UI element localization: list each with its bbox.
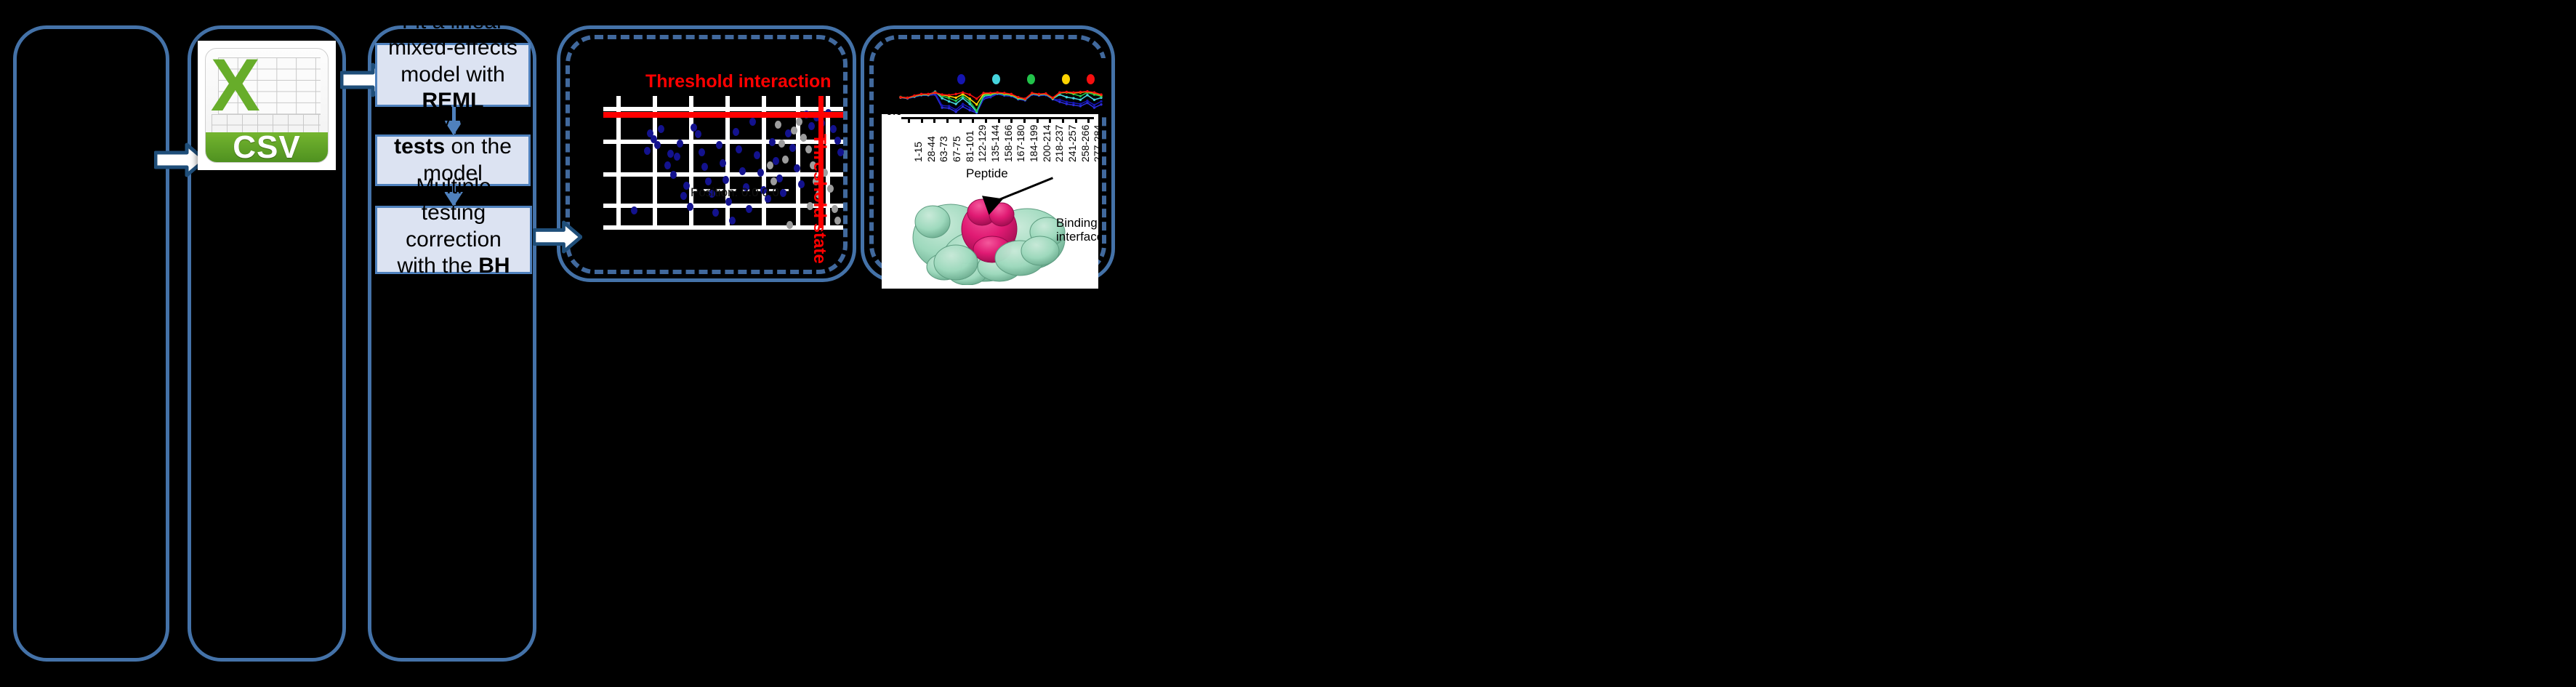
gridline-h	[603, 140, 843, 144]
chart-series-marker	[948, 105, 950, 107]
chart-series-marker	[1093, 104, 1095, 106]
chart-series-marker	[1031, 92, 1033, 94]
chart-series-marker	[941, 93, 943, 95]
chart-series-marker	[1079, 91, 1082, 93]
scatter-point	[798, 180, 805, 188]
peptide-tick-label: 158-166	[1002, 125, 1014, 162]
chart-series-marker	[920, 93, 922, 95]
chart-series-marker	[1052, 97, 1054, 99]
chart-series-line	[901, 93, 1101, 113]
peptide-tick-label: 277-284	[1092, 125, 1098, 162]
scatter-point	[789, 144, 796, 152]
chart-series-marker	[989, 92, 991, 94]
chart-series-marker	[954, 100, 957, 102]
chart-series-marker	[1003, 92, 1005, 94]
step-wald-pre: Apply	[397, 108, 457, 132]
chart-series-marker	[1100, 93, 1102, 95]
scatter-point	[780, 189, 786, 197]
chart-series-marker	[1066, 96, 1068, 98]
peptide-line-chart	[883, 58, 1108, 115]
scatter-point	[644, 147, 651, 155]
chart-series-marker	[962, 103, 964, 105]
chart-series-marker	[1079, 95, 1082, 97]
scatter-point-ns	[775, 121, 781, 129]
excel-x-glyph: X	[211, 50, 260, 121]
scatter-point	[830, 125, 837, 133]
chart-series-marker	[975, 97, 978, 100]
chart-series-marker	[954, 103, 957, 105]
scatter-point	[749, 118, 756, 126]
chart-series-marker	[983, 92, 985, 94]
scatter-point	[680, 192, 687, 200]
chart-series-marker	[1086, 90, 1088, 92]
scatter-point	[670, 171, 677, 179]
csv-icon-body: X CSV	[205, 48, 329, 163]
scatter-point-ns	[778, 140, 785, 148]
scatter-point	[687, 203, 693, 211]
peptide-tick-label: 184-199	[1028, 125, 1039, 162]
scatter-point	[736, 145, 742, 153]
gridline-h	[603, 225, 843, 230]
chart-series-marker	[941, 105, 943, 107]
chart-series-marker	[1079, 103, 1082, 105]
scatter-point	[729, 217, 736, 225]
scatter-point	[834, 137, 841, 145]
scatter-point	[794, 164, 800, 172]
scatter-point	[701, 163, 708, 171]
chart-series-marker	[1066, 100, 1068, 103]
chart-series-marker	[975, 103, 978, 105]
step-bh-post: procedure	[404, 281, 502, 305]
chart-series-line	[901, 94, 1101, 113]
chart-series-marker	[1024, 97, 1026, 100]
chart-series-marker	[934, 92, 936, 94]
scatter-point	[733, 128, 739, 136]
scatter-point	[712, 209, 719, 217]
chart-series-marker	[906, 97, 909, 99]
chart-series-marker	[968, 97, 970, 100]
chart-series-marker	[1045, 92, 1047, 95]
scatter-point-ns	[782, 156, 789, 164]
chart-series-marker	[1072, 92, 1074, 94]
chart-series-marker	[1086, 100, 1088, 102]
scatter-title: Threshold interaction	[645, 71, 832, 92]
scatter-point-ns	[800, 134, 807, 142]
scatter-point	[695, 130, 701, 138]
chart-series-marker	[962, 105, 964, 108]
step-box-reml[interactable]: Fit a linear mixed-effects model with RE…	[375, 43, 531, 107]
scatter-plot-area: Position: 0.0 0.0 Threshold state	[603, 96, 843, 228]
chart-series-marker	[1100, 103, 1102, 105]
csv-label: CSV	[233, 129, 300, 163]
scatter-point-ns	[791, 126, 797, 134]
scatter-point	[837, 148, 844, 156]
chart-series-marker	[954, 97, 957, 99]
chart-series-marker	[948, 100, 950, 103]
scatter-point	[631, 206, 637, 214]
binding-interface-label: Binding interface	[1056, 216, 1098, 244]
scatter-point-ns	[767, 161, 773, 169]
scatter-point	[739, 167, 746, 175]
chart-series-marker	[1058, 92, 1060, 94]
chart-series-marker	[975, 110, 978, 112]
peptide-tick-label: 81-101	[964, 130, 975, 162]
chart-series-marker	[1010, 93, 1013, 95]
chart-series-marker	[968, 106, 970, 108]
scatter-point-ns	[832, 205, 838, 213]
peptide-tick-label: 67-75	[951, 136, 962, 162]
scatter-point	[664, 161, 671, 169]
threshold-interaction-line	[603, 112, 843, 118]
chart-series-marker	[948, 94, 950, 96]
scatter-point	[754, 151, 760, 159]
chart-series-marker	[997, 92, 999, 94]
peptide-tick-label: 167-180	[1015, 125, 1026, 162]
scatter-point	[720, 159, 726, 167]
scatter-point	[677, 140, 683, 148]
scatter-point-ns	[770, 177, 777, 185]
chart-series-marker	[1093, 92, 1095, 94]
chart-series-marker	[1058, 99, 1060, 101]
chart-series-marker	[1017, 96, 1019, 98]
chart-series-marker	[968, 93, 970, 95]
chart-series-marker	[968, 100, 970, 103]
scatter-point	[723, 176, 729, 184]
scatter-point-ns	[796, 118, 802, 126]
peptide-tick-label: 200-214	[1041, 125, 1052, 162]
chart-series-marker	[899, 96, 901, 98]
scatter-point-ns	[834, 217, 841, 225]
binding-interface-line2: interface	[1056, 230, 1098, 244]
chart-series-marker	[1079, 99, 1082, 101]
peptide-tick-label: 241-257	[1066, 125, 1078, 162]
scatter-point	[746, 205, 752, 213]
stage-box-input	[13, 25, 169, 662]
peptide-tick-labels: 1-1528-4463-7367-7581-101122-129135-1441…	[882, 114, 1098, 169]
peptide-tick-label: 28-44	[925, 136, 937, 162]
peptide-tick-label: 218-237	[1053, 125, 1065, 162]
csv-file-icon: X CSV	[198, 41, 336, 170]
flow-diagram-canvas: X CSV Fit a linear mixed-effects model w…	[0, 0, 2576, 687]
peptide-tick-label: 122-129	[976, 125, 988, 162]
scatter-point	[674, 153, 680, 161]
scatter-point	[658, 125, 664, 133]
scatter-point	[699, 148, 705, 156]
chart-series-marker	[968, 109, 970, 111]
chart-series-marker	[1093, 99, 1095, 101]
scatter-point	[773, 157, 779, 165]
chart-series-marker	[954, 93, 957, 95]
chart-series-marker	[1072, 102, 1074, 104]
arrow-analysis-to-threshold	[533, 220, 582, 254]
chart-series-marker	[1038, 93, 1040, 95]
scatter-point	[757, 169, 764, 177]
scatter-point	[705, 177, 712, 185]
chart-series-marker	[1100, 100, 1102, 103]
chart-series-marker	[1093, 106, 1095, 108]
scatter-point-ns	[786, 221, 793, 229]
scatter-point	[667, 150, 674, 158]
step-box-bh[interactable]: Multiple testing correction with the BH …	[375, 206, 532, 274]
chart-series-marker	[1072, 97, 1074, 99]
chart-series-marker	[913, 95, 915, 97]
results-white-panel: 0.0 1-1528-4463-7367-7581-101122-129135-…	[882, 114, 1098, 289]
scatter-point	[654, 141, 661, 149]
step-reml-pre: Fit a linear mixed-effects model with	[388, 9, 518, 87]
step-text-bh: Multiple testing correction with the BH …	[385, 174, 523, 307]
csv-label-band: CSV	[206, 132, 328, 162]
step-bh-bold: BH	[478, 254, 510, 278]
peptide-tick-label: 258-266	[1079, 125, 1091, 162]
peptide-tick-label: 135-144	[989, 125, 1001, 162]
binding-interface-line1: Binding	[1056, 216, 1098, 230]
peptide-tick-label: 1-15	[912, 142, 924, 162]
scatter-point	[769, 138, 776, 146]
peptide-tick-label: 63-73	[938, 136, 949, 162]
chart-series-marker	[1066, 91, 1068, 93]
scatter-point	[683, 182, 690, 190]
line-series-svg	[883, 58, 1108, 115]
x-axis-title: Peptide	[966, 166, 1008, 181]
scatter-faint-position-label: Position: 0.0 0.0	[691, 185, 779, 200]
chart-series-marker	[954, 108, 957, 111]
chart-series-marker	[927, 93, 929, 95]
scatter-point	[808, 122, 815, 130]
threshold-state-label: Threshold state	[809, 134, 829, 264]
chart-series-marker	[1086, 94, 1088, 96]
chart-series-marker	[962, 92, 964, 94]
scatter-point	[716, 141, 723, 149]
threshold-scatter-figure: Threshold interaction Position: 0.0 0.0 …	[581, 65, 843, 269]
scatter-point	[776, 174, 783, 182]
